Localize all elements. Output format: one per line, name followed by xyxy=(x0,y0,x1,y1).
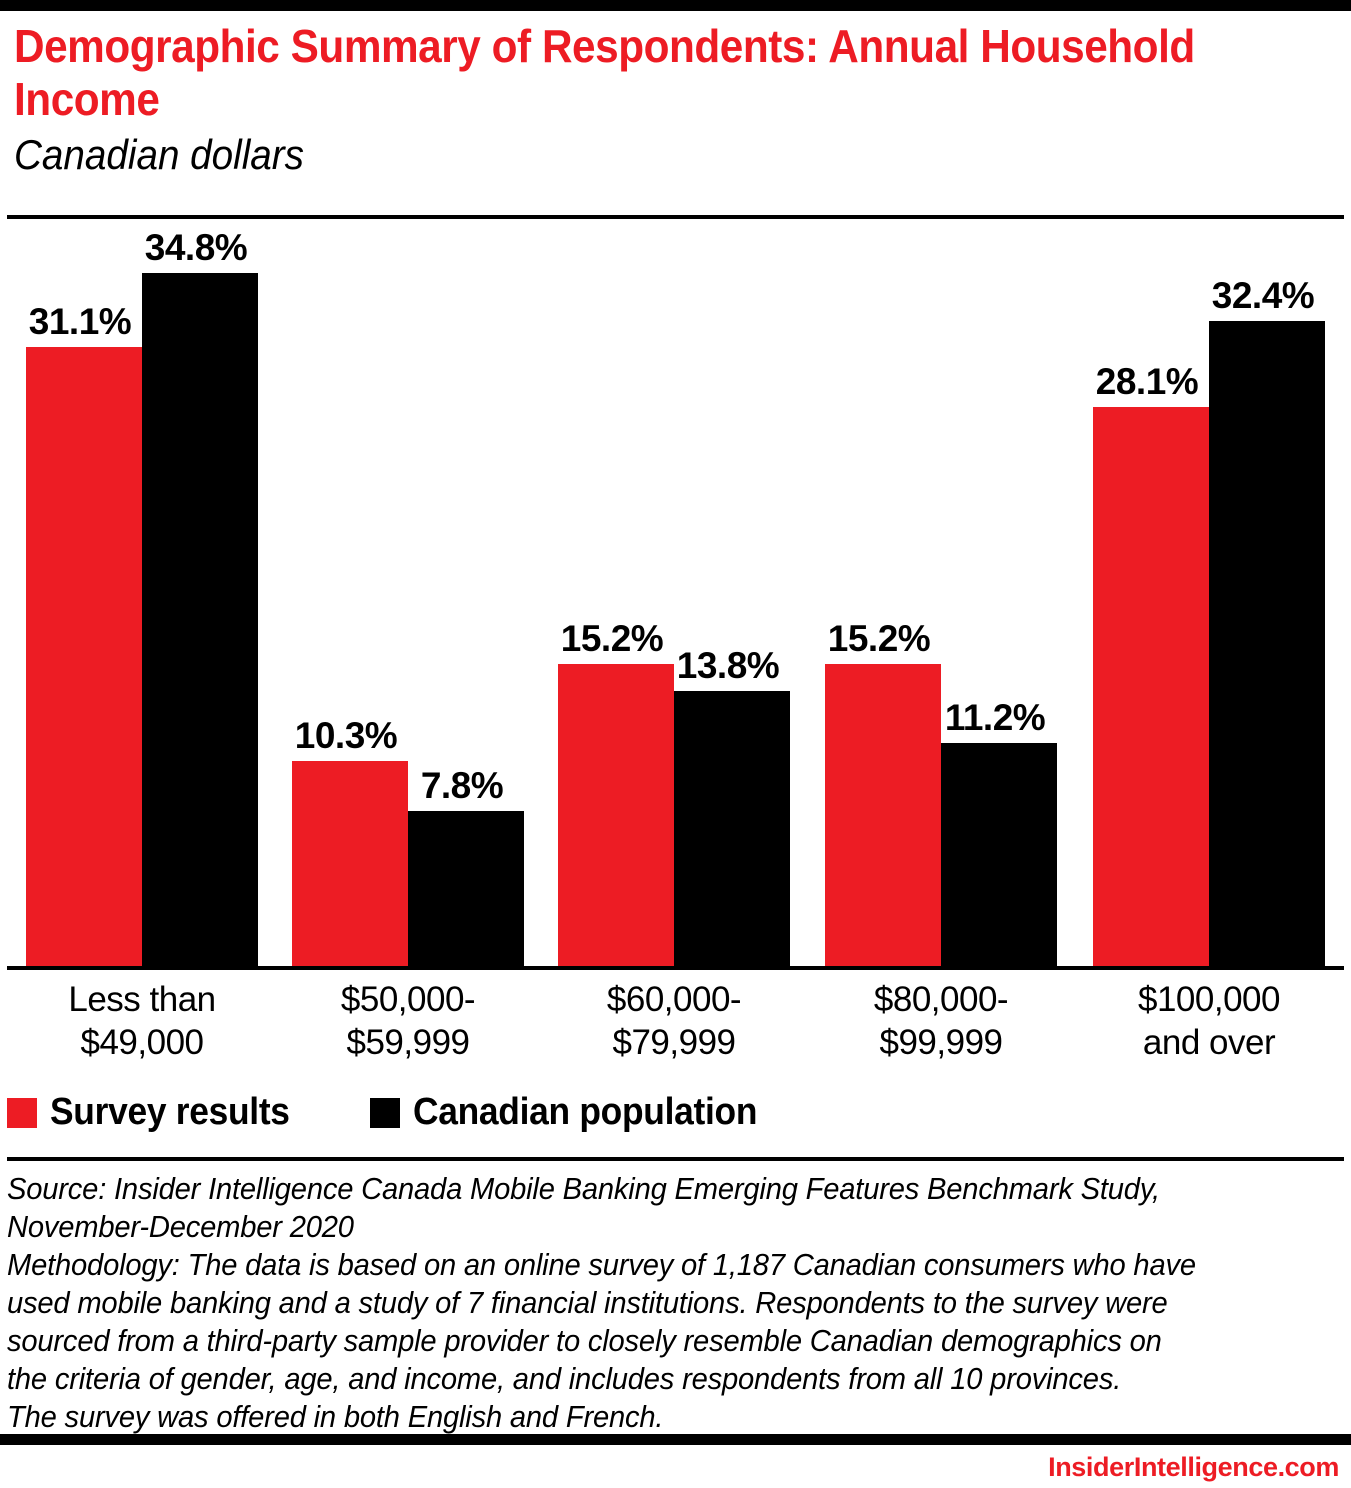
top-rule-band xyxy=(0,0,1351,11)
chart-title: Demographic Summary of Respondents: Annu… xyxy=(14,20,1219,126)
footnote-line-0: Source: Insider Intelligence Canada Mobi… xyxy=(7,1170,1267,1208)
x-axis-label-line: Less than xyxy=(6,978,278,1021)
x-axis-label-line: and over xyxy=(1073,1021,1345,1064)
footnote-line-4: sourced from a third-party sample provid… xyxy=(7,1322,1267,1360)
bar-population-0 xyxy=(142,273,258,966)
bar-population-1 xyxy=(408,811,524,966)
legend-label: Canadian population xyxy=(413,1091,757,1134)
legend-item-0[interactable]: Survey results xyxy=(7,1091,308,1134)
bar-population-2 xyxy=(674,691,790,966)
footnote-line-5: the criteria of gender, age, and income,… xyxy=(7,1360,1267,1398)
legend-swatch-icon xyxy=(7,1098,37,1128)
legend-swatch-icon xyxy=(370,1098,400,1128)
legend-divider xyxy=(7,1157,1344,1161)
bar-survey-2 xyxy=(558,664,674,966)
bar-survey-3 xyxy=(825,664,941,966)
bar-population-4 xyxy=(1209,321,1325,966)
bar-value-label: 11.2% xyxy=(937,697,1053,739)
footnote-line-2: Methodology: The data is based on an onl… xyxy=(7,1246,1267,1284)
bar-value-label: 31.1% xyxy=(22,301,138,343)
bar-value-label: 15.2% xyxy=(821,618,937,660)
footnote-line-1: November-December 2020 xyxy=(7,1208,1267,1246)
chart-page: Demographic Summary of Respondents: Annu… xyxy=(0,0,1351,1488)
x-axis-label-line: $49,000 xyxy=(6,1021,278,1064)
bar-population-3 xyxy=(941,743,1057,966)
x-axis-label-line: $100,000 xyxy=(1073,978,1345,1021)
bar-value-label: 34.8% xyxy=(138,227,254,269)
x-axis-label-0: Less than$49,000 xyxy=(6,978,278,1064)
x-axis-label-line: $99,999 xyxy=(805,1021,1077,1064)
x-axis-label-line: $60,000- xyxy=(538,978,810,1021)
x-axis-label-line: $50,000- xyxy=(272,978,544,1021)
x-axis-label-3: $80,000-$99,999 xyxy=(805,978,1077,1064)
brand-label: InsiderIntelligence.com xyxy=(1048,1452,1339,1483)
bar-value-label: 32.4% xyxy=(1205,275,1321,317)
bar-survey-1 xyxy=(292,761,408,966)
footnotes: Source: Insider Intelligence Canada Mobi… xyxy=(7,1170,1347,1436)
x-axis-line xyxy=(7,966,1344,970)
bar-value-label: 28.1% xyxy=(1089,361,1205,403)
legend-item-1[interactable]: Canadian population xyxy=(370,1091,783,1134)
footnote-line-3: used mobile banking and a study of 7 fin… xyxy=(7,1284,1267,1322)
bar-value-label: 7.8% xyxy=(404,765,520,807)
x-axis-label-4: $100,000and over xyxy=(1073,978,1345,1064)
bar-survey-4 xyxy=(1093,407,1209,966)
bottom-rule-band xyxy=(0,1434,1351,1445)
title-block: Demographic Summary of Respondents: Annu… xyxy=(14,20,1324,180)
bar-survey-0 xyxy=(26,347,142,966)
footnote-line-6: The survey was offered in both English a… xyxy=(7,1398,1267,1436)
chart-subtitle: Canadian dollars xyxy=(14,130,1219,180)
x-axis-label-line: $79,999 xyxy=(538,1021,810,1064)
x-axis-label-1: $50,000-$59,999 xyxy=(272,978,544,1064)
legend-label: Survey results xyxy=(50,1091,290,1134)
x-axis-label-line: $59,999 xyxy=(272,1021,544,1064)
title-divider xyxy=(7,215,1344,219)
bar-value-label: 13.8% xyxy=(670,645,786,687)
x-axis-label-2: $60,000-$79,999 xyxy=(538,978,810,1064)
x-axis-label-line: $80,000- xyxy=(805,978,1077,1021)
bar-value-label: 15.2% xyxy=(554,618,670,660)
chart-legend: Survey resultsCanadian population xyxy=(7,1091,845,1134)
bar-value-label: 10.3% xyxy=(288,715,404,757)
